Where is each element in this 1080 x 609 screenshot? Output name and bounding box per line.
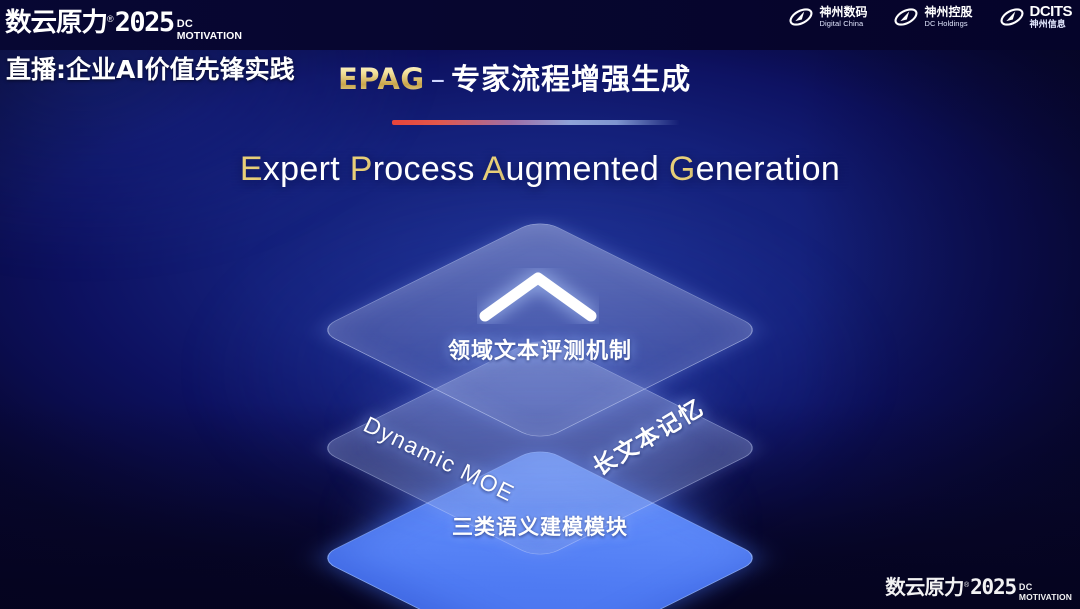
- title-chinese: 专家流程增强生成: [451, 62, 691, 96]
- brand-dc-label: DC: [177, 19, 242, 30]
- partner-name-cn: 神州控股: [924, 6, 972, 19]
- page-title: EPAG–专家流程增强生成: [338, 56, 691, 98]
- footer-brand-motivation-label: MOTIVATION: [1019, 593, 1072, 602]
- brand-logo: 数云原力 ® 2025 DC MOTIVATION: [6, 2, 242, 36]
- subtitle-word-augmented: Augmented: [483, 150, 660, 188]
- partner-name-en: DCITS: [1030, 4, 1073, 20]
- partner-name-en: Digital China: [819, 20, 867, 28]
- footer-brand-year: 2025: [970, 575, 1016, 599]
- partner-logo-text: 神州控股 DC Holdings: [924, 6, 972, 27]
- accent-bar-decoration: [392, 120, 680, 125]
- subtitle-word-process: Process: [350, 150, 475, 188]
- footer-brand-dc-label: DC: [1019, 583, 1072, 592]
- partner-name-cn: 神州数码: [819, 6, 867, 19]
- partner-name-en: DC Holdings: [924, 20, 972, 28]
- footer-brand-dc-motivation: DC MOTIVATION: [1019, 583, 1072, 602]
- brand-dc-motivation: DC MOTIVATION: [177, 19, 242, 42]
- partner-name-cn: 神州信息: [1030, 21, 1073, 30]
- brand-motivation-label: MOTIVATION: [177, 31, 242, 42]
- chevron-up-icon: [477, 268, 599, 329]
- title-dash: –: [425, 62, 452, 96]
- diagram-layer-top-label: 领域文本评测机制: [0, 333, 1080, 365]
- brand-registered-mark: ®: [107, 14, 114, 24]
- brand-name-cn: 数云原力: [5, 2, 107, 39]
- subtitle: Expert Process Augmented Generation: [0, 150, 1080, 189]
- brand-year: 2025: [115, 7, 174, 38]
- partner-logo-digital-china: 神州数码 Digital China: [788, 4, 867, 30]
- footer-brand-registered-mark: ®: [964, 582, 969, 589]
- subtitle-word-expert: Expert: [240, 150, 340, 188]
- title-acronym: EPAG: [338, 62, 425, 96]
- swirl-logo-icon: [893, 4, 919, 30]
- swirl-logo-icon: [999, 4, 1025, 30]
- diagram-layer-bottom-label: 三类语义建模模块: [0, 511, 1080, 541]
- subtitle-word-generation: Generation: [669, 150, 840, 188]
- footer-brand-watermark: 数云原力 ® 2025 DC MOTIVATION: [886, 571, 1072, 606]
- partner-logo-text: 神州数码 Digital China: [819, 6, 867, 27]
- live-stream-title: 直播:企业AI价值先锋实践: [6, 50, 295, 86]
- partner-logo-dc-holdings: 神州控股 DC Holdings: [893, 4, 972, 30]
- partner-logo-text: DCITS 神州信息: [1030, 4, 1073, 30]
- partner-logo-dcits: DCITS 神州信息: [999, 4, 1073, 30]
- footer-brand-name-cn: 数云原力: [885, 571, 963, 600]
- partner-logos: 神州数码 Digital China 神州控股 DC Holdings DCIT…: [788, 4, 1072, 30]
- swirl-logo-icon: [788, 4, 814, 30]
